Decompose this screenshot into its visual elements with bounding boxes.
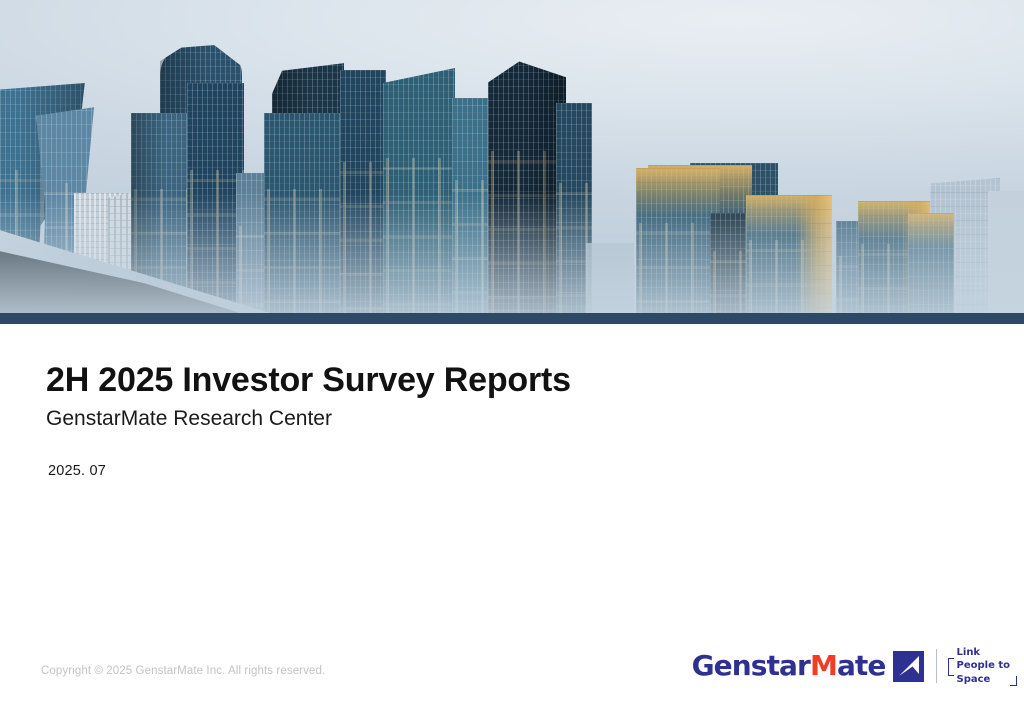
logo-word-part2: ate <box>837 649 886 682</box>
tagline-line-1: Link <box>948 646 1010 659</box>
bracket-left-icon <box>948 658 954 676</box>
logo-wordmark: GenstarMate <box>692 652 886 680</box>
hero-skyline-image <box>0 0 1024 313</box>
title-block: 2H 2025 Investor Survey Reports GenstarM… <box>46 360 806 431</box>
tagline-line-2: People to <box>948 659 1010 672</box>
atmospheric-haze <box>0 193 1024 313</box>
title-slide: 2H 2025 Investor Survey Reports GenstarM… <box>0 0 1024 707</box>
tagline-line-3: Space <box>948 673 1010 686</box>
copyright-notice: Copyright © 2025 GenstarMate Inc. All ri… <box>41 665 325 677</box>
date-stamp: 2025. 07 <box>48 463 106 479</box>
logo-word-accent: M <box>810 649 837 682</box>
logo-word-part1: Genstar <box>692 649 810 682</box>
brand-logo: GenstarMate Link People to Space <box>692 643 1010 689</box>
arrow-up-right-icon <box>893 651 924 682</box>
page-subtitle: GenstarMate Research Center <box>46 406 806 431</box>
bracket-right-icon <box>1010 676 1017 686</box>
hero-divider-rule <box>0 313 1024 324</box>
page-title: 2H 2025 Investor Survey Reports <box>46 360 806 400</box>
logo-tagline: Link People to Space <box>948 645 1010 687</box>
logo-divider <box>936 649 937 683</box>
